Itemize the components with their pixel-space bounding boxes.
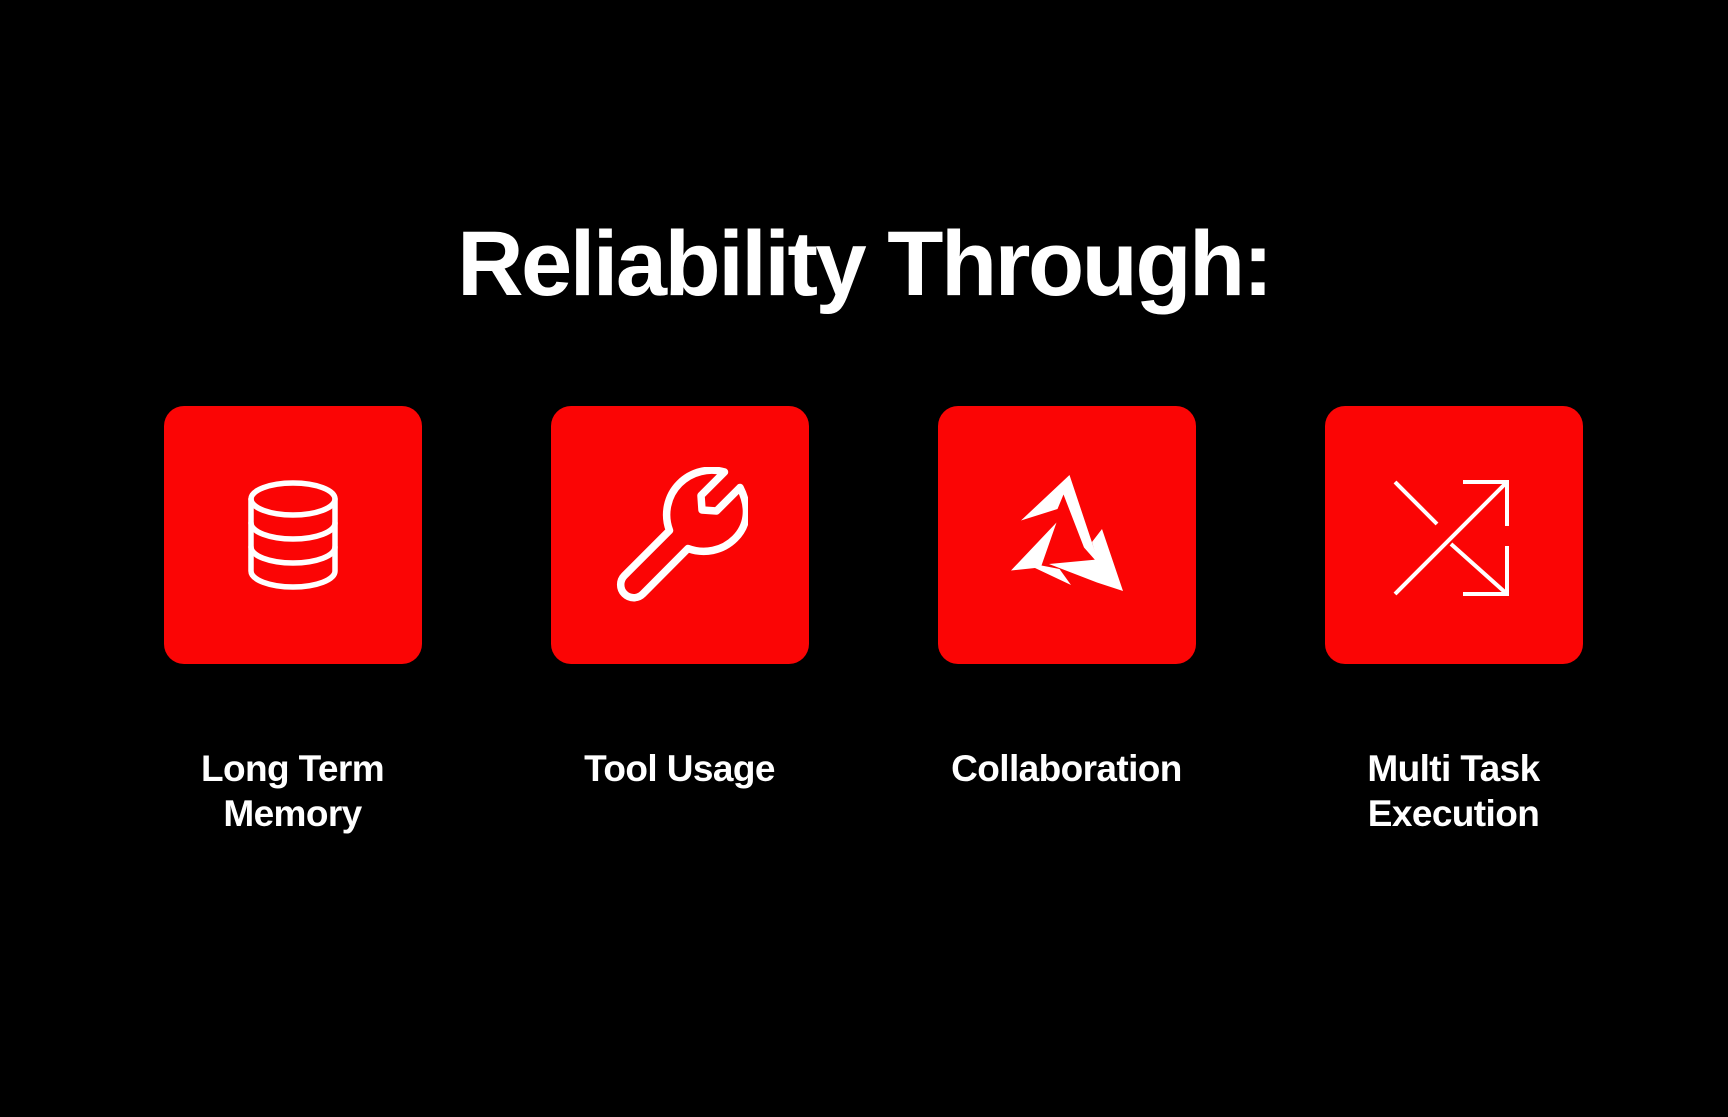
slide-root: Reliability Through: Long Term Memory — [0, 0, 1728, 1117]
title-container: Reliability Through: — [0, 218, 1728, 310]
feature-label-long-term-memory: Long Term Memory — [201, 746, 384, 836]
page-title: Reliability Through: — [0, 218, 1728, 310]
database-icon — [228, 470, 358, 600]
shuffle-arrows-icon — [1389, 470, 1519, 600]
cycle-arrows-icon — [1001, 469, 1133, 601]
feature-card-row: Long Term Memory Tool Usage — [0, 406, 1728, 836]
icon-tile-tool-usage[interactable] — [551, 406, 809, 664]
feature-label-multi-task-execution: Multi Task Execution — [1367, 746, 1539, 836]
icon-tile-long-term-memory[interactable] — [164, 406, 422, 664]
feature-card-collaboration[interactable]: Collaboration — [938, 406, 1196, 791]
icon-tile-multi-task-execution[interactable] — [1325, 406, 1583, 664]
wrench-icon — [612, 467, 748, 603]
feature-card-long-term-memory[interactable]: Long Term Memory — [164, 406, 422, 836]
feature-label-tool-usage: Tool Usage — [584, 746, 775, 791]
feature-card-tool-usage[interactable]: Tool Usage — [551, 406, 809, 791]
feature-card-multi-task-execution[interactable]: Multi Task Execution — [1325, 406, 1583, 836]
feature-label-collaboration: Collaboration — [951, 746, 1182, 791]
icon-tile-collaboration[interactable] — [938, 406, 1196, 664]
